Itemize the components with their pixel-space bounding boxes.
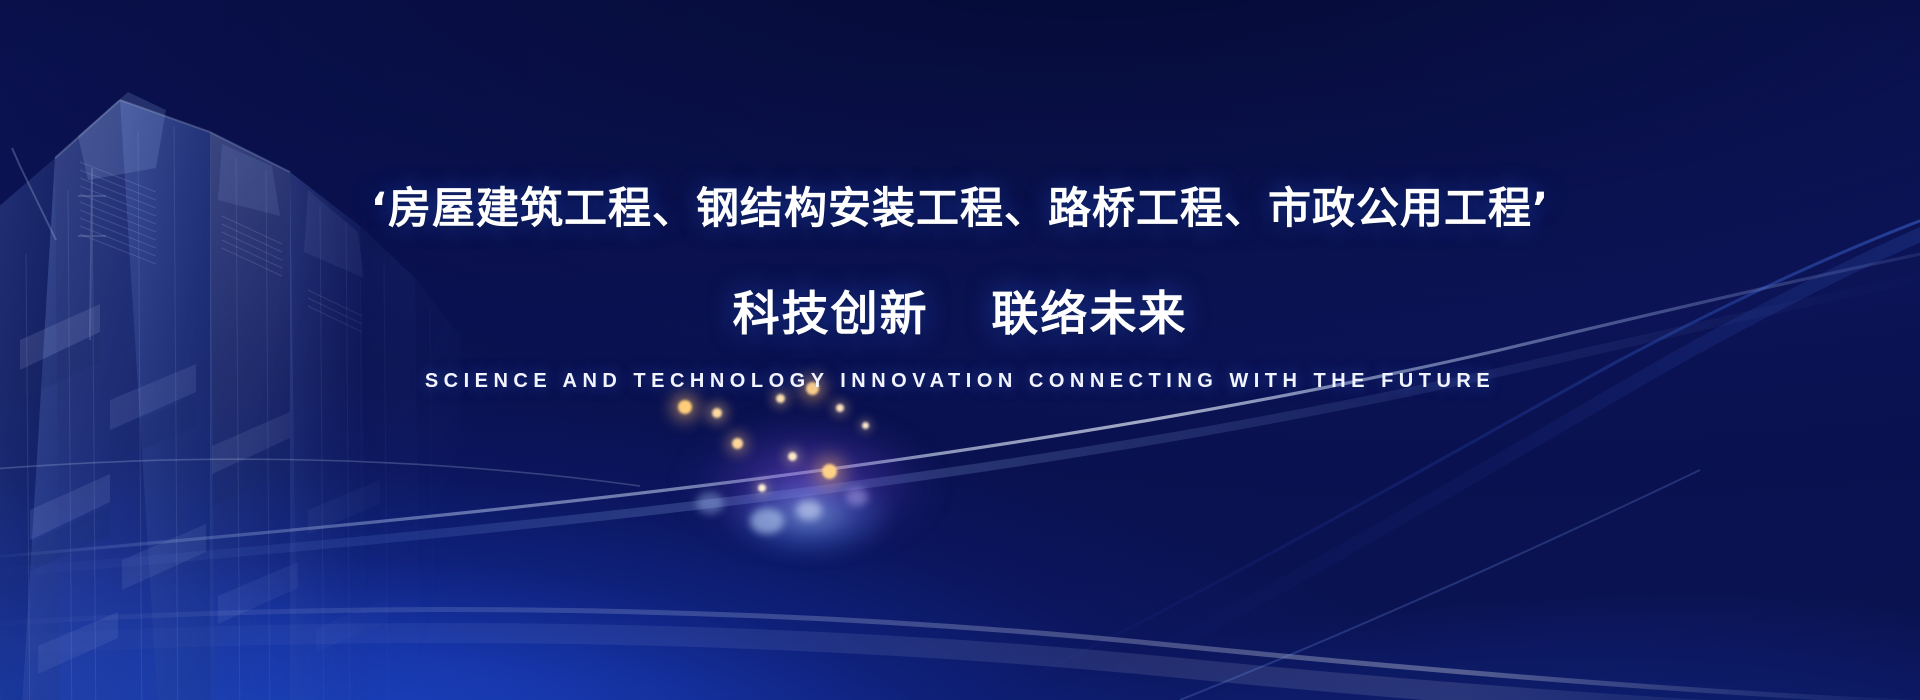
banner-tagline: SCIENCE AND TECHNOLOGY INNOVATION CONNEC… — [0, 370, 1920, 393]
subhead-right: 联络未来 — [991, 287, 1187, 342]
banner-canvas: ‘房屋建筑工程、钢结构安装工程、路桥工程、市政公用工程’ 科技创新 联络未来 S… — [0, 0, 1920, 700]
page-title: ‘房屋建筑工程、钢结构安装工程、路桥工程、市政公用工程’ — [0, 188, 1920, 231]
subhead-left: 科技创新 — [733, 287, 929, 342]
banner-text-block: ‘房屋建筑工程、钢结构安装工程、路桥工程、市政公用工程’ 科技创新 联络未来 S… — [0, 188, 1920, 393]
banner-subhead: 科技创新 联络未来 — [0, 275, 1920, 344]
